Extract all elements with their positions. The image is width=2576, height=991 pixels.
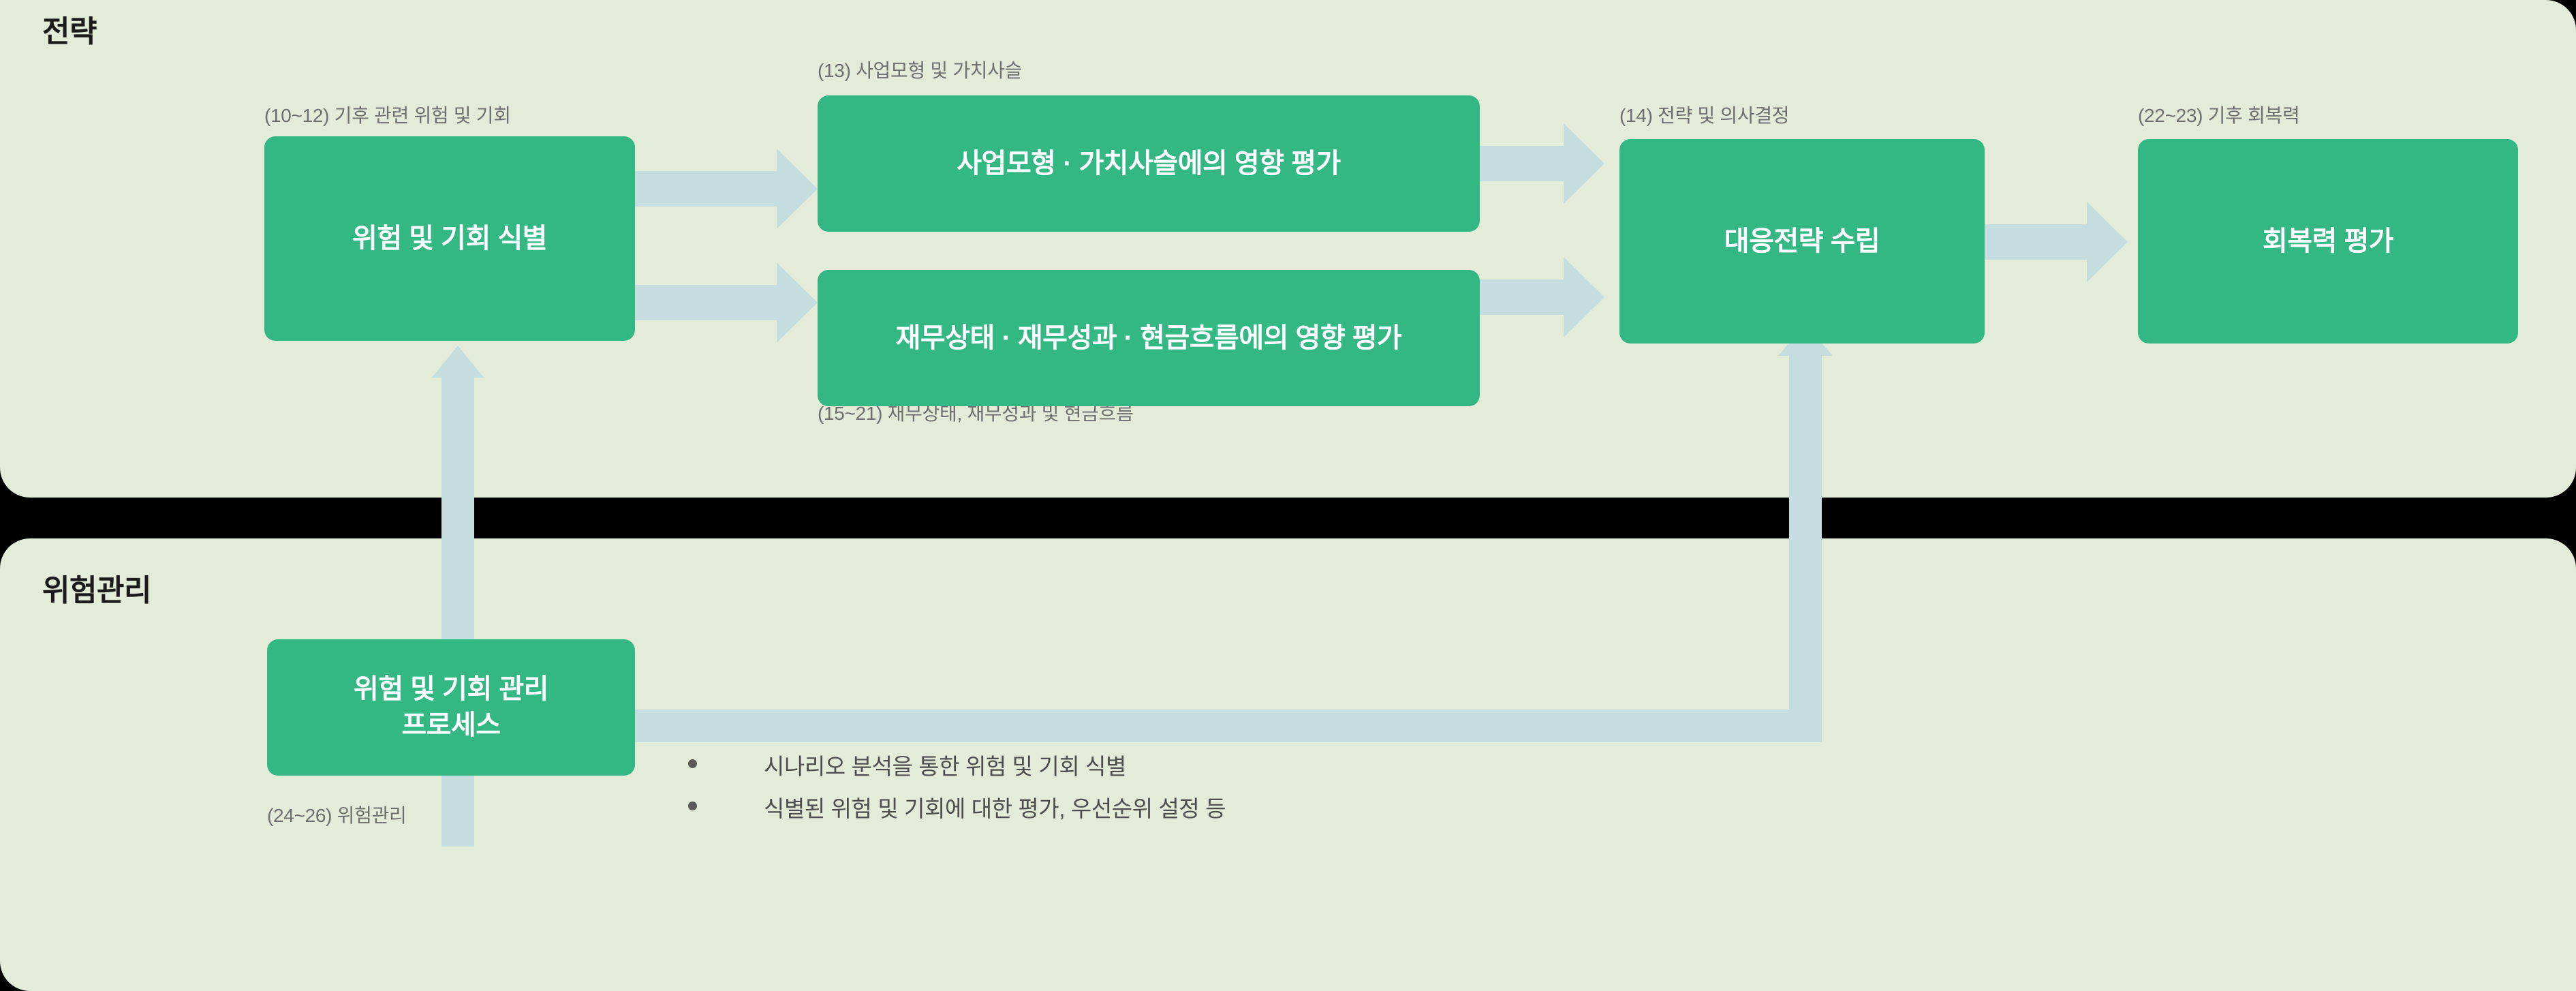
section-title-strategy: 전략 [42,7,97,50]
caption-strategy-decision: (14) 전략 및 의사결정 [1619,101,1789,128]
list-item: 시나리오 분석을 통한 위험 및 기회 식별 [688,748,1778,781]
bullet-dot-icon [688,759,697,768]
caption-risk-management: (24~26) 위험관리 [267,801,407,828]
node-risk-opportunity-management-process[interactable]: 위험 및 기회 관리 프로세스 [267,639,635,776]
bullet-text: 시나리오 분석을 통한 위험 및 기회 식별 [764,748,1126,781]
list-item: 식별된 위험 및 기회에 대한 평가, 우선순위 설정 등 [688,791,1778,823]
caption-identify: (10~12) 기후 관련 위험 및 기회 [264,101,511,128]
section-title-risk-management: 위험관리 [42,566,151,609]
caption-business-model: (13) 사업모형 및 가치사슬 [818,56,1022,83]
caption-climate-resilience: (22~23) 기후 회복력 [2138,101,2299,128]
diagram-canvas: 전략 위험관리 (10~12) 기후 관련 위험 및 기회 (13) 사업모형 … [0,0,2576,991]
risk-management-bullet-list: 시나리오 분석을 통한 위험 및 기회 식별 식별된 위험 및 기회에 대한 평… [688,748,1778,833]
node-business-model-value-chain-impact[interactable]: 사업모형 · 가치사슬에의 영향 평가 [818,95,1480,232]
node-resilience-assessment[interactable]: 회복력 평가 [2138,139,2518,344]
node-financial-impact-assessment[interactable]: 재무상태 · 재무성과 · 현금흐름에의 영향 평가 [818,270,1480,406]
node-identify-risks-opportunities[interactable]: 위험 및 기회 식별 [264,136,635,341]
bullet-text: 식별된 위험 및 기회에 대한 평가, 우선순위 설정 등 [764,791,1226,823]
bullet-dot-icon [688,802,697,810]
node-response-strategy[interactable]: 대응전략 수립 [1619,139,1985,344]
